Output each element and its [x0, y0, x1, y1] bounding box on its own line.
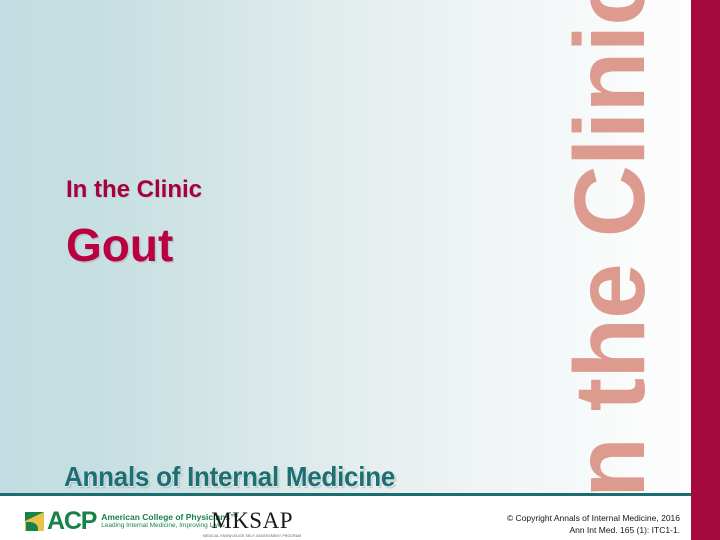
- copyright-line-2: Ann Int Med. 165 (1): ITC1-1.: [400, 524, 680, 536]
- journal-wordmark: Annals of Internal Medicine: [64, 461, 395, 493]
- mksap-subtitle: MEDICAL KNOWLEDGE SELF-ASSESSMENT PROGRA…: [203, 534, 301, 538]
- mksap-logo: MKSAP MEDICAL KNOWLEDGE SELF-ASSESSMENT …: [203, 509, 301, 538]
- copyright-line-1: © Copyright Annals of Internal Medicine,…: [400, 512, 680, 524]
- acp-emblem-icon: [25, 512, 44, 531]
- page-title: Gout: [66, 220, 506, 272]
- presentation-slide: In the Clinic In the Clinic Gout Annals …: [0, 0, 720, 540]
- series-label: In the Clinic: [66, 176, 506, 204]
- copyright-notice: © Copyright Annals of Internal Medicine,…: [400, 512, 680, 537]
- acp-letters: ACP: [47, 509, 96, 534]
- right-accent-band: [691, 0, 720, 540]
- mksap-wordmark: MKSAP: [203, 509, 301, 532]
- title-block: In the Clinic Gout: [66, 176, 506, 271]
